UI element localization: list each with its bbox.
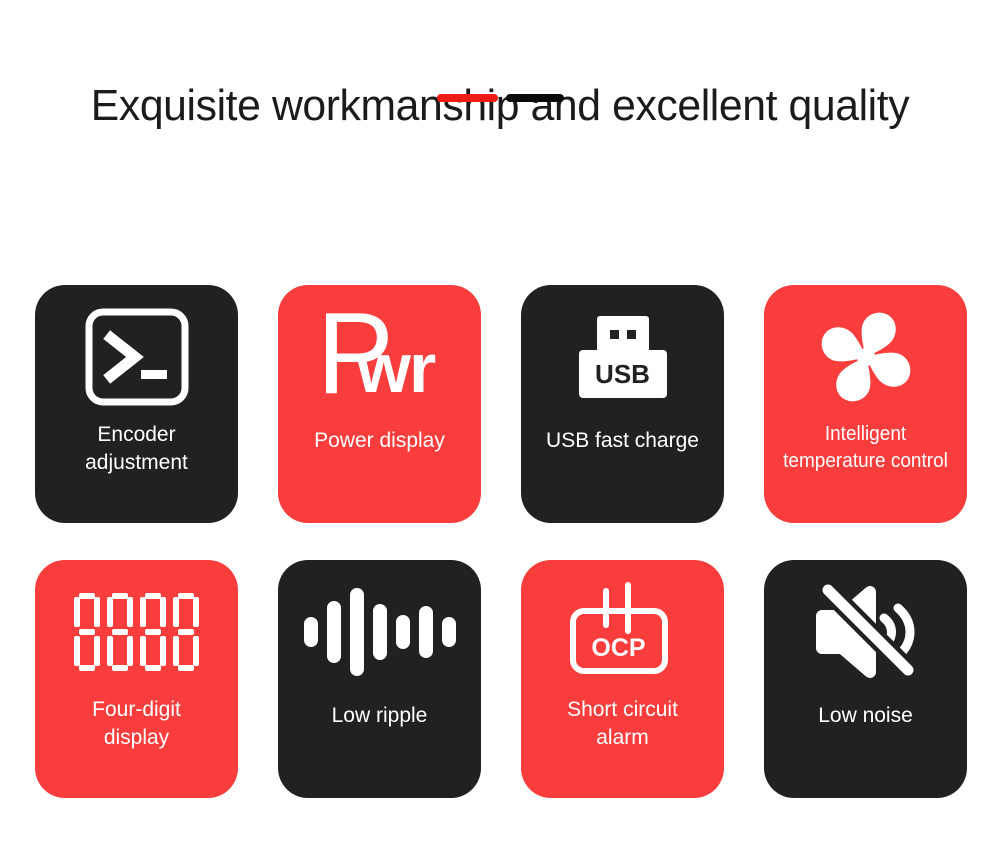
seven-segment-digit bbox=[107, 593, 133, 671]
feature-label: Intelligent temperature control bbox=[769, 421, 962, 475]
muted-speaker-icon bbox=[764, 568, 967, 696]
usb-plug-icon: USB bbox=[521, 293, 724, 421]
waveform-bars bbox=[304, 580, 456, 684]
feature-label: Encoder adjustment bbox=[35, 421, 238, 477]
ocp-prong-left bbox=[603, 588, 609, 628]
feature-label: USB fast charge bbox=[521, 427, 724, 455]
feature-tile-usb-fast-charge[interactable]: USB USB fast charge bbox=[521, 285, 724, 523]
ocp-protection-icon: OCP bbox=[521, 568, 724, 696]
seven-segment-display-icon bbox=[35, 568, 238, 696]
feature-tile-intelligent-temperature-control[interactable]: Intelligent temperature control bbox=[764, 285, 967, 523]
usb-connector-body: USB bbox=[579, 350, 667, 398]
seven-segment-digit bbox=[173, 593, 199, 671]
usb-badge-text: USB bbox=[595, 361, 650, 387]
page-header: Exquisite workmanship and excellent qual… bbox=[0, 78, 1000, 134]
feature-tile-low-ripple[interactable]: Low ripple bbox=[278, 560, 481, 798]
page-title: Exquisite workmanship and excellent qual… bbox=[15, 78, 985, 134]
pwr-wordmark-icon: P wr bbox=[278, 293, 481, 421]
feature-grid-page: Exquisite workmanship and excellent qual… bbox=[0, 0, 1000, 851]
feature-tile-low-noise[interactable]: Low noise bbox=[764, 560, 967, 798]
divider-black-segment bbox=[506, 94, 564, 102]
seven-segment-digit bbox=[74, 593, 100, 671]
ocp-prong-right bbox=[625, 582, 631, 634]
feature-tile-four-digit-display[interactable]: Four-digit display bbox=[35, 560, 238, 798]
features-grid: Encoder adjustment P wr Power display bbox=[35, 285, 965, 798]
feature-tile-power-display[interactable]: P wr Power display bbox=[278, 285, 481, 523]
title-divider bbox=[0, 94, 1000, 102]
pwr-letters-wr: wr bbox=[357, 333, 435, 403]
feature-label: Four-digit display bbox=[35, 696, 238, 752]
fan-icon bbox=[764, 293, 967, 421]
waveform-bars-icon bbox=[278, 568, 481, 696]
feature-label: Short circuit alarm bbox=[521, 696, 724, 752]
ocp-enclosure: OCP bbox=[570, 608, 668, 674]
divider-red-segment bbox=[437, 94, 498, 102]
feature-tile-short-circuit-alarm[interactable]: OCP Short circuit alarm bbox=[521, 560, 724, 798]
usb-pin-right bbox=[627, 330, 636, 339]
feature-label: Low ripple bbox=[278, 702, 481, 730]
usb-connector-head bbox=[597, 316, 649, 352]
usb-pin-left bbox=[610, 330, 619, 339]
terminal-icon bbox=[35, 293, 238, 421]
feature-label: Low noise bbox=[764, 702, 967, 730]
feature-label: Power display bbox=[278, 427, 481, 455]
feature-tile-encoder-adjustment[interactable]: Encoder adjustment bbox=[35, 285, 238, 523]
seven-segment-digit bbox=[140, 593, 166, 671]
ocp-badge-text: OCP bbox=[591, 636, 645, 661]
